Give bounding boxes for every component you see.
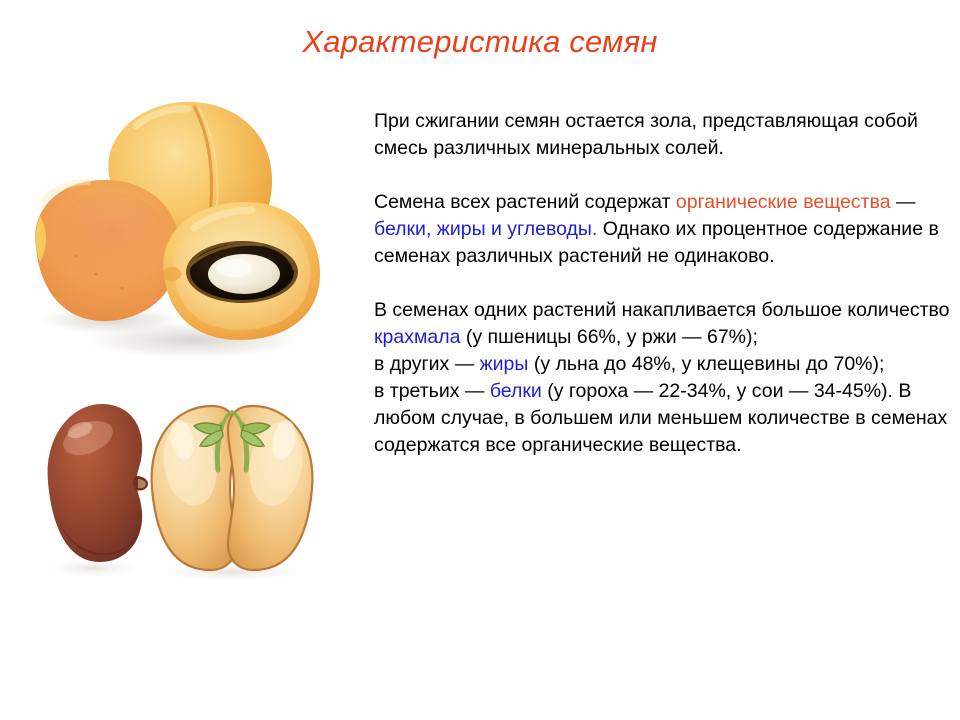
apricot-seed — [208, 254, 280, 294]
apricot-whole-left — [35, 180, 180, 321]
term-organic-substances: органические вещества — [676, 191, 891, 213]
p1-text: При сжигании семян остается зола, предст… — [374, 110, 918, 159]
cotyledon-left — [152, 406, 236, 570]
cotyledon-right — [228, 406, 312, 570]
paragraph-ash: При сжигании семян остается зола, предст… — [374, 108, 954, 162]
apricot-halved-with-pit — [163, 202, 320, 340]
bean-illustration — [22, 378, 332, 588]
term-proteins-fats-carbs: белки, жиры и углеводы. — [374, 218, 597, 240]
term-proteins: белки — [490, 380, 542, 402]
bean-split-cotyledons — [152, 406, 313, 570]
page-title: Характеристика семян — [0, 24, 960, 60]
paragraph-organic-substances: Семена всех растений содержат органическ… — [374, 189, 954, 270]
p2-dash: — — [891, 191, 916, 213]
p3-third-lead: в третьих — — [374, 380, 490, 402]
body-text-column: При сжигании семян остается зола, предст… — [374, 108, 954, 459]
paragraph-percentages: В семенах одних растений накапливается б… — [374, 297, 954, 459]
p3-starch-values: (у пшеницы 66%, у ржи — 67%); — [460, 326, 757, 348]
bean-whole — [48, 404, 148, 562]
p3-others-lead: в других — — [374, 353, 480, 375]
p2-lead: Семена всех растений содержат — [374, 191, 676, 213]
apricot-illustration — [18, 88, 328, 368]
term-starch: крахмала — [374, 326, 460, 348]
p3-fat-values: (у льна до 48%, у клещевины до 70%); — [528, 353, 884, 375]
p3-lead: В семенах одних растений накапливается б… — [374, 299, 950, 321]
illustration-column — [0, 88, 360, 628]
term-fats: жиры — [480, 353, 529, 375]
